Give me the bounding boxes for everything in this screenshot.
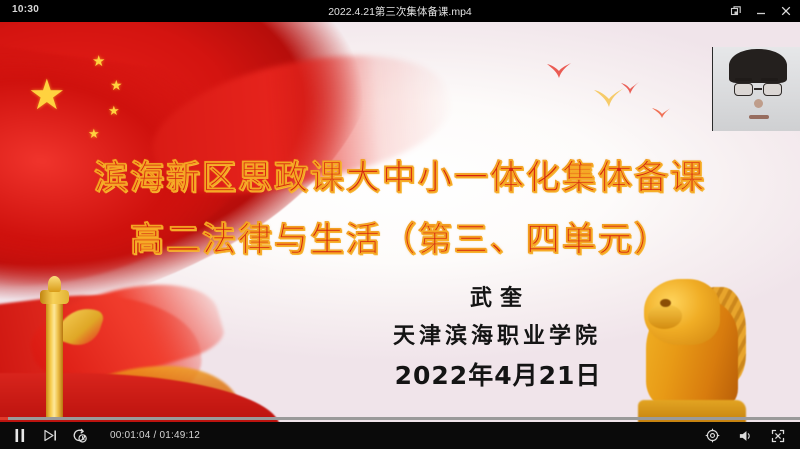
restore-icon [730, 5, 742, 17]
restore-window-button[interactable] [729, 5, 742, 18]
timecode-display: 00:01:04 / 01:49:12 [110, 430, 200, 441]
player-right-controls [704, 422, 786, 449]
slide-title-line-2: 高二法律与生活（第三、四单元） [0, 212, 800, 261]
minimize-window-button[interactable] [754, 5, 767, 18]
glasses-lens-left [734, 83, 753, 96]
speaker-icon [738, 429, 753, 443]
speed-clock-icon [72, 428, 88, 444]
close-window-button[interactable] [779, 5, 792, 18]
title-bar: 10:30 2022.4.21第三次集体备课.mp4 [0, 0, 800, 22]
minimize-icon [755, 5, 767, 17]
webcam-eyebrow-right [761, 78, 778, 81]
settings-button[interactable] [704, 428, 720, 444]
presenter-webcam[interactable] [712, 47, 800, 131]
video-surface[interactable]: ★ ★ ★ ★ ★ [0, 22, 800, 422]
fullscreen-button[interactable] [770, 428, 786, 444]
progress-bar[interactable] [0, 417, 800, 420]
close-icon [780, 5, 792, 17]
playback-speed-button[interactable] [72, 428, 88, 444]
webcam-person-mouth [749, 115, 769, 119]
player-left-controls: 00:01:04 / 01:49:12 [12, 422, 200, 449]
slide-date: 2022年4月21日 [380, 356, 616, 392]
window-title: 2022.4.21第三次集体备课.mp4 [0, 4, 800, 19]
fullscreen-icon [771, 429, 785, 443]
window-controls [729, 2, 792, 20]
webcam-eyebrow-left [735, 78, 752, 81]
video-player-window: 10:30 2022.4.21第三次集体备课.mp4 [0, 0, 800, 449]
glasses-bridge [754, 88, 762, 90]
pause-icon [13, 428, 27, 443]
gear-icon [705, 428, 720, 443]
webcam-person-nose [754, 99, 763, 108]
slide-title-line-1: 滨海新区思政课大中小一体化集体备课 [0, 150, 800, 199]
volume-button[interactable] [737, 428, 753, 444]
slide-presenter-name: 武奎 [420, 280, 580, 312]
progress-bar-fill [0, 417, 8, 420]
next-frame-button[interactable] [42, 428, 58, 444]
slide-text-layer: 滨海新区思政课大中小一体化集体备课 高二法律与生活（第三、四单元） 武奎 天津滨… [0, 22, 800, 422]
glasses-lens-right [763, 83, 782, 96]
pause-button[interactable] [12, 428, 28, 444]
webcam-person-face [733, 63, 783, 129]
glasses-icon [733, 83, 783, 96]
slide-organization: 天津滨海职业学院 [372, 318, 622, 350]
player-control-bar: 00:01:04 / 01:49:12 [0, 422, 800, 449]
next-track-icon [43, 429, 58, 442]
